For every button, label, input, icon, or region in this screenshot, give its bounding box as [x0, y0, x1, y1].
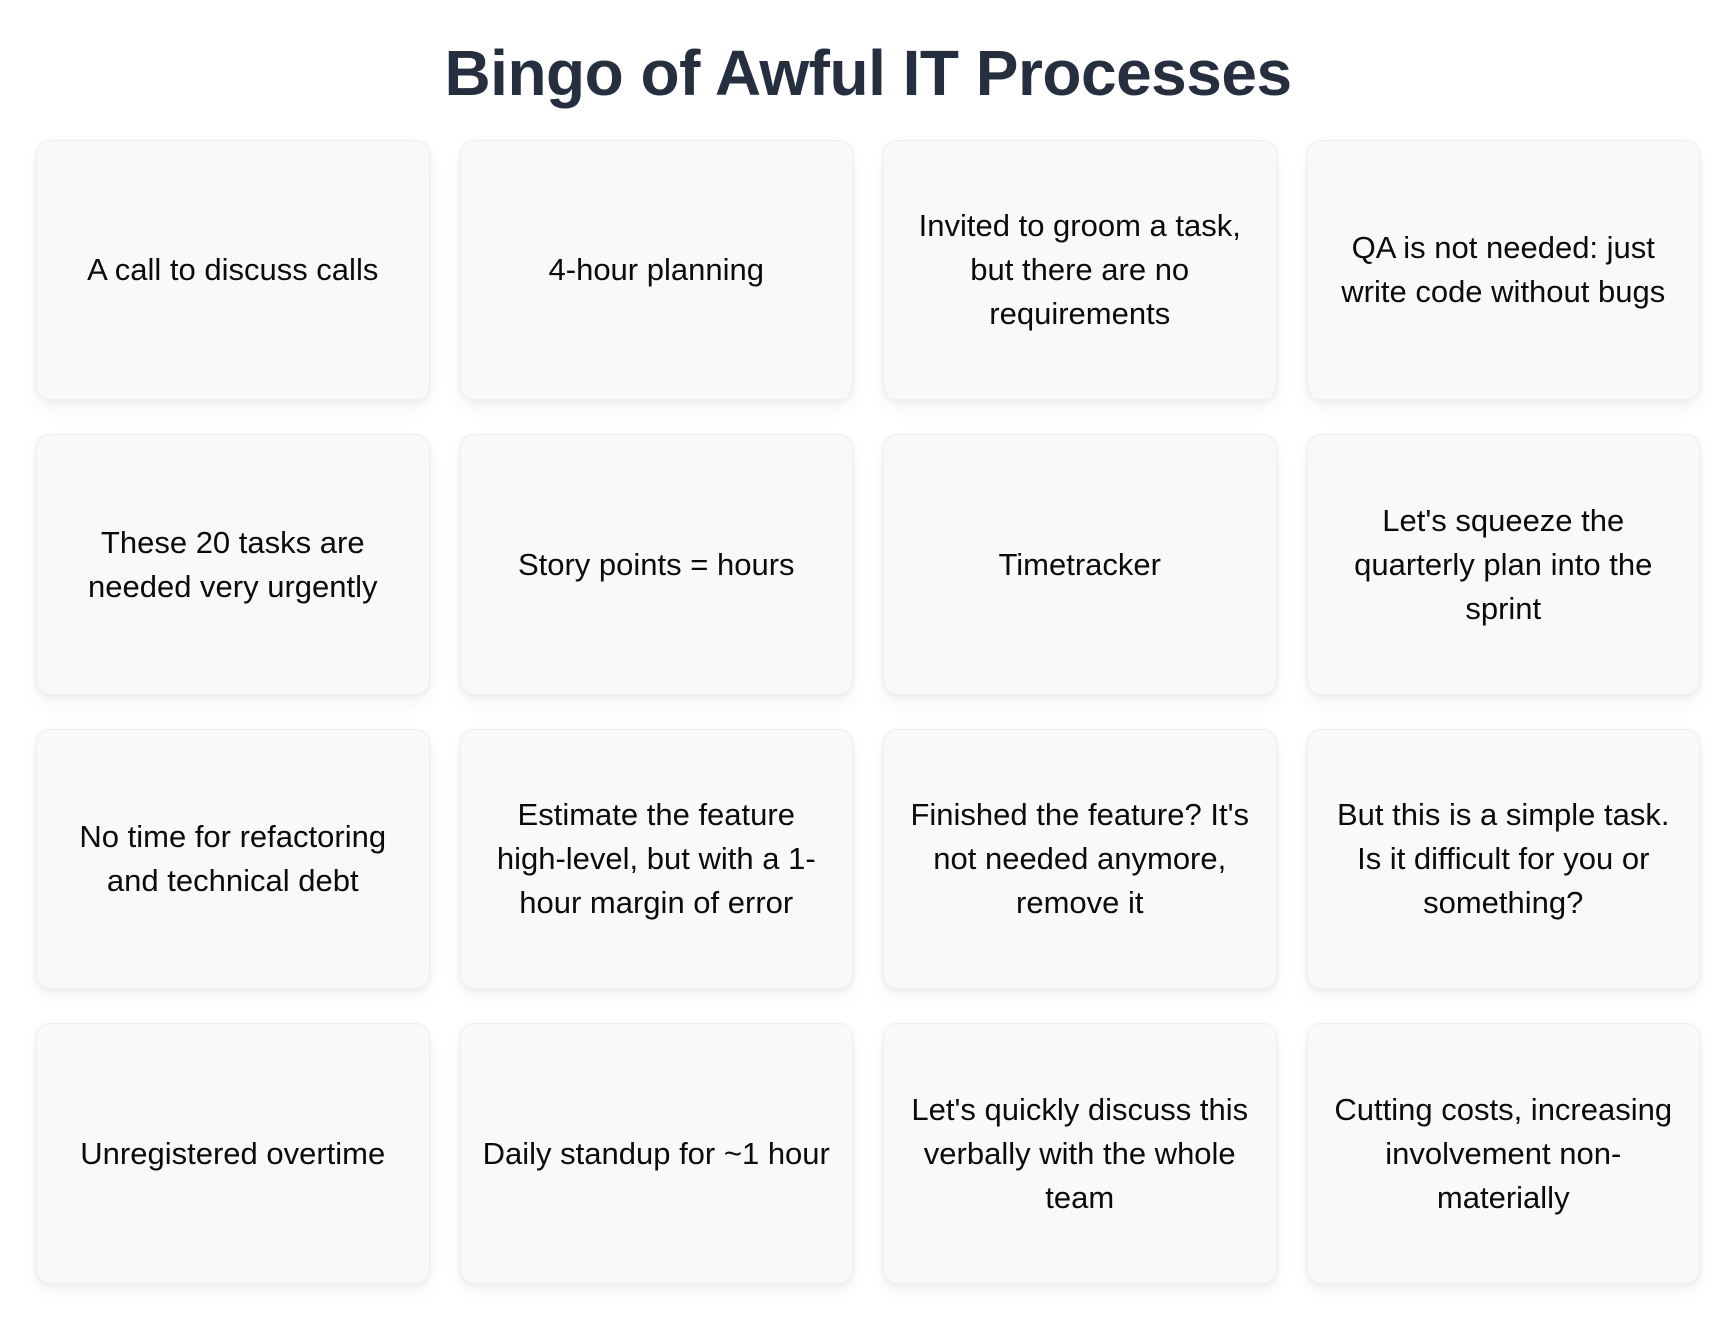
bingo-cell-label: Daily standup for ~1 hour — [483, 1132, 830, 1176]
bingo-cell-label: Cutting costs, increasing involvement no… — [1330, 1088, 1678, 1220]
bingo-cell-8[interactable]: Let's squeeze the quarterly plan into th… — [1307, 434, 1701, 695]
bingo-cell-label: QA is not needed: just write code withou… — [1330, 226, 1678, 314]
bingo-cell-label: Unregistered overtime — [80, 1132, 385, 1176]
bingo-cell-label: No time for refactoring and technical de… — [59, 815, 407, 903]
bingo-cell-9[interactable]: No time for refactoring and technical de… — [36, 729, 430, 990]
bingo-cell-14[interactable]: Daily standup for ~1 hour — [460, 1023, 854, 1284]
page-title: Bingo of Awful IT Processes — [36, 0, 1700, 140]
bingo-cell-label: But this is a simple task. Is it difficu… — [1330, 793, 1678, 925]
bingo-cell-label: 4-hour planning — [549, 248, 764, 292]
bingo-cell-label: A call to discuss calls — [87, 248, 378, 292]
bingo-cell-2[interactable]: 4-hour planning — [460, 140, 854, 401]
bingo-grid: A call to discuss calls 4-hour planning … — [36, 140, 1700, 1326]
bingo-page: Bingo of Awful IT Processes A call to di… — [0, 0, 1736, 1326]
bingo-cell-4[interactable]: QA is not needed: just write code withou… — [1307, 140, 1701, 401]
bingo-cell-label: Story points = hours — [518, 543, 795, 587]
bingo-cell-label: Finished the feature? It's not needed an… — [906, 793, 1254, 925]
bingo-cell-16[interactable]: Cutting costs, increasing involvement no… — [1307, 1023, 1701, 1284]
bingo-cell-6[interactable]: Story points = hours — [460, 434, 854, 695]
bingo-cell-label: Let's squeeze the quarterly plan into th… — [1330, 499, 1678, 631]
bingo-cell-1[interactable]: A call to discuss calls — [36, 140, 430, 401]
bingo-cell-label: Let's quickly discuss this verbally with… — [906, 1088, 1254, 1220]
bingo-cell-3[interactable]: Invited to groom a task, but there are n… — [883, 140, 1277, 401]
bingo-cell-label: Invited to groom a task, but there are n… — [906, 204, 1254, 336]
bingo-cell-10[interactable]: Estimate the feature high-level, but wit… — [460, 729, 854, 990]
bingo-cell-7[interactable]: Timetracker — [883, 434, 1277, 695]
bingo-cell-13[interactable]: Unregistered overtime — [36, 1023, 430, 1284]
bingo-cell-15[interactable]: Let's quickly discuss this verbally with… — [883, 1023, 1277, 1284]
bingo-cell-11[interactable]: Finished the feature? It's not needed an… — [883, 729, 1277, 990]
bingo-cell-label: Timetracker — [999, 543, 1161, 587]
bingo-cell-label: Estimate the feature high-level, but wit… — [483, 793, 831, 925]
bingo-cell-5[interactable]: These 20 tasks are needed very urgently — [36, 434, 430, 695]
bingo-cell-label: These 20 tasks are needed very urgently — [59, 521, 407, 609]
bingo-cell-12[interactable]: But this is a simple task. Is it difficu… — [1307, 729, 1701, 990]
